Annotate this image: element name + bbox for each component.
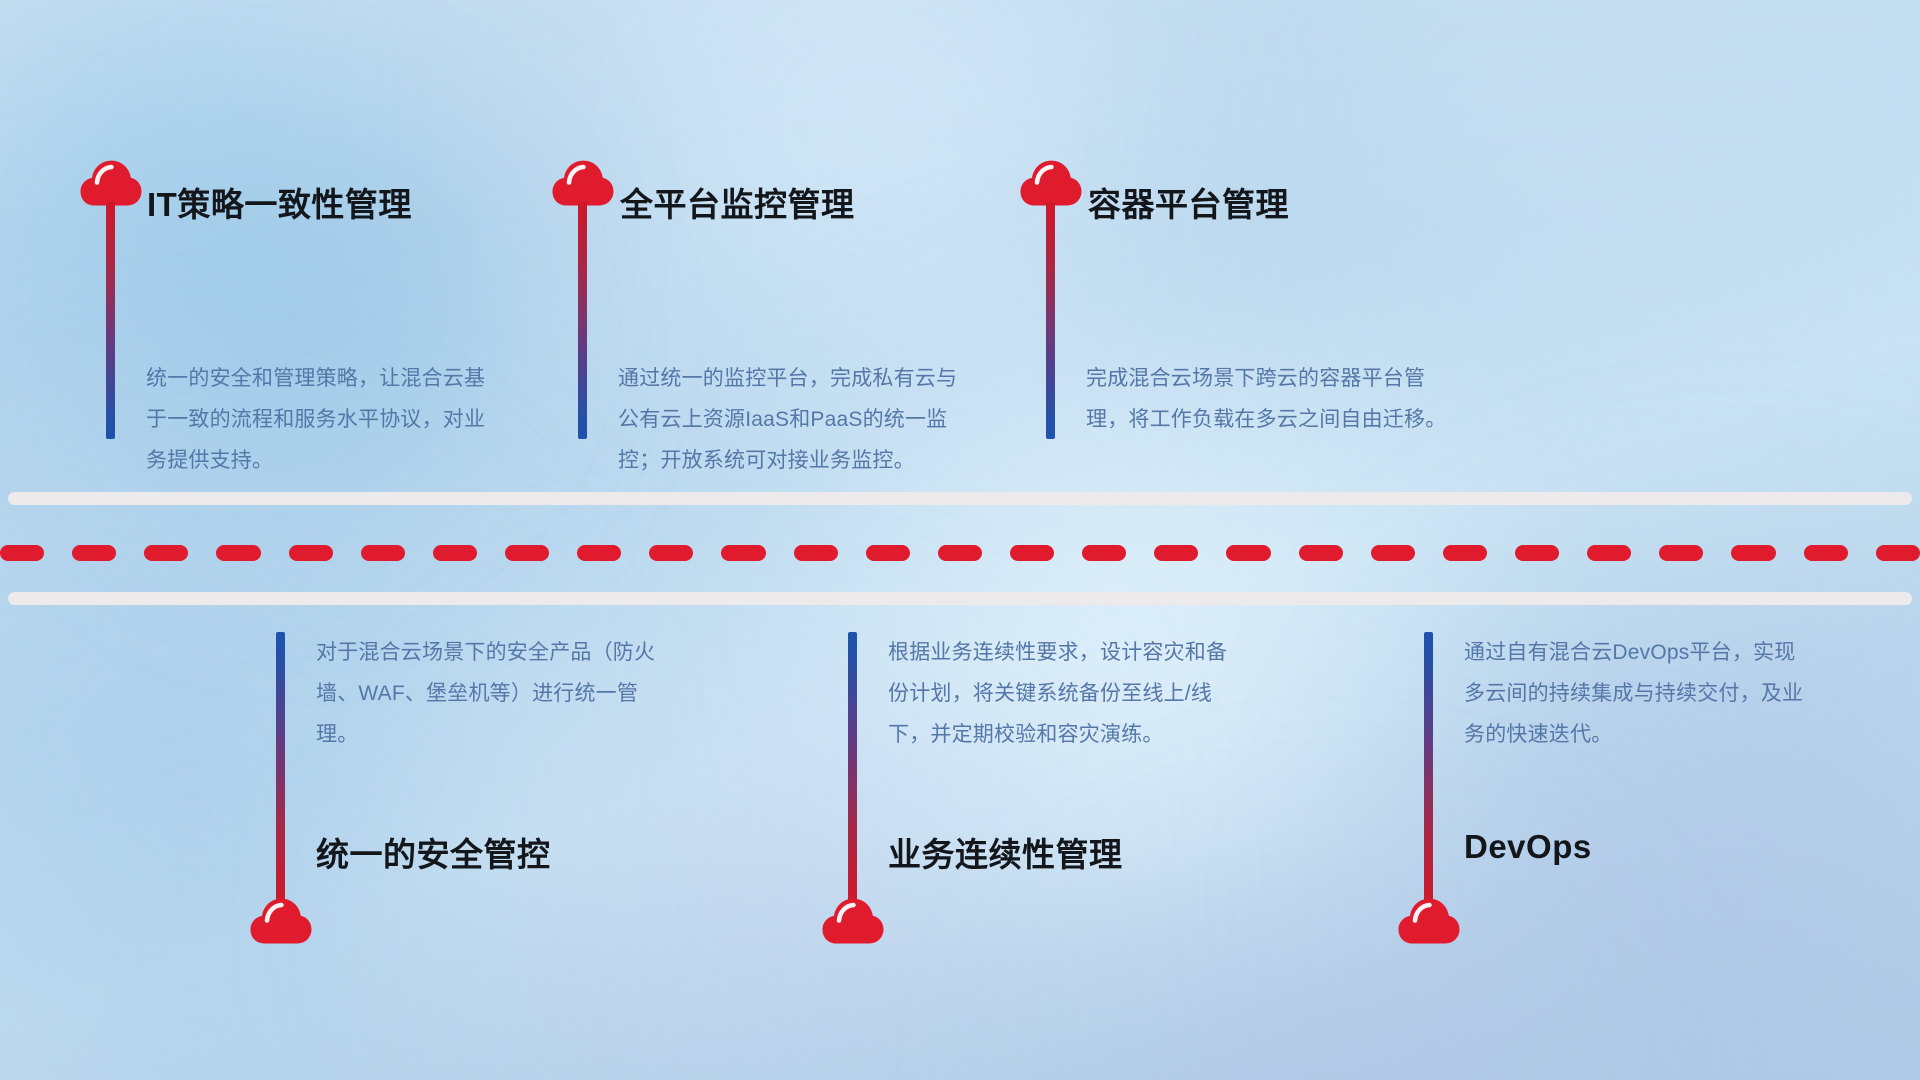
cloud-icon — [822, 898, 884, 944]
divider-line-upper — [8, 492, 1912, 505]
divider-dash — [794, 545, 838, 561]
divider-dash — [1804, 545, 1848, 561]
divider-dash — [1587, 545, 1631, 561]
pin-stem — [848, 632, 857, 907]
divider-dash — [361, 545, 405, 561]
cloud-icon — [80, 160, 142, 206]
divider-dash — [721, 545, 765, 561]
pin-stem — [1424, 632, 1433, 907]
cloud-icon — [250, 898, 312, 944]
bottom-item-3-body: 通过自有混合云DevOps平台，实现多云间的持续集成与持续交付，及业务的快速迭代… — [1464, 632, 1812, 755]
cloud-icon — [1398, 898, 1460, 944]
divider-dash — [1371, 545, 1415, 561]
top-item-1-body: 统一的安全和管理策略，让混合云基于一致的流程和服务水平协议，对业务提供支持。 — [146, 358, 492, 481]
pin-stem — [106, 202, 115, 439]
cloud-icon — [1020, 160, 1082, 206]
divider-dash — [289, 545, 333, 561]
bottom-item-1-body: 对于混合云场景下的安全产品（防火墙、WAF、堡垒机等）进行统一管理。 — [316, 632, 676, 755]
bottom-item-3-title: DevOps — [1464, 828, 1592, 866]
divider-dash — [1443, 545, 1487, 561]
bottom-item-2-title: 业务连续性管理 — [888, 828, 1123, 876]
divider-dash — [1299, 545, 1343, 561]
bottom-item-1-title: 统一的安全管控 — [316, 828, 551, 876]
infographic-stage: IT策略一致性管理 统一的安全和管理策略，让混合云基于一致的流程和服务水平协议，… — [0, 0, 1920, 1080]
pin-stem — [276, 632, 285, 907]
divider-dash — [577, 545, 621, 561]
top-item-2-body: 通过统一的监控平台，完成私有云与公有云上资源IaaS和PaaS的统一监控；开放系… — [618, 358, 978, 481]
top-item-2-title: 全平台监控管理 — [620, 178, 855, 226]
divider-dash — [1515, 545, 1559, 561]
pin-stem — [578, 202, 587, 439]
divider-dash — [938, 545, 982, 561]
divider-dash — [0, 545, 44, 561]
top-item-3-body: 完成混合云场景下跨云的容器平台管理，将工作负载在多云之间自由迁移。 — [1086, 358, 1454, 440]
top-item-1-title: IT策略一致性管理 — [147, 178, 412, 226]
divider-dash — [1154, 545, 1198, 561]
divider-dash — [1876, 545, 1920, 561]
pin-stem — [1046, 202, 1055, 439]
top-item-3-title: 容器平台管理 — [1088, 178, 1289, 226]
divider-dash — [1659, 545, 1703, 561]
bottom-item-2-body: 根据业务连续性要求，设计容灾和备份计划，将关键系统备份至线上/线下，并定期校验和… — [888, 632, 1248, 755]
divider-line-lower — [8, 592, 1912, 605]
divider-dash — [433, 545, 477, 561]
divider-dashed-line — [0, 545, 1920, 561]
divider-dash — [866, 545, 910, 561]
divider-dash — [72, 545, 116, 561]
divider-dash — [144, 545, 188, 561]
cloud-icon — [552, 160, 614, 206]
divider-dash — [1082, 545, 1126, 561]
divider-dash — [1010, 545, 1054, 561]
divider-dash — [1731, 545, 1775, 561]
divider-dash — [505, 545, 549, 561]
divider-dash — [649, 545, 693, 561]
divider-dash — [1226, 545, 1270, 561]
divider-dash — [216, 545, 260, 561]
